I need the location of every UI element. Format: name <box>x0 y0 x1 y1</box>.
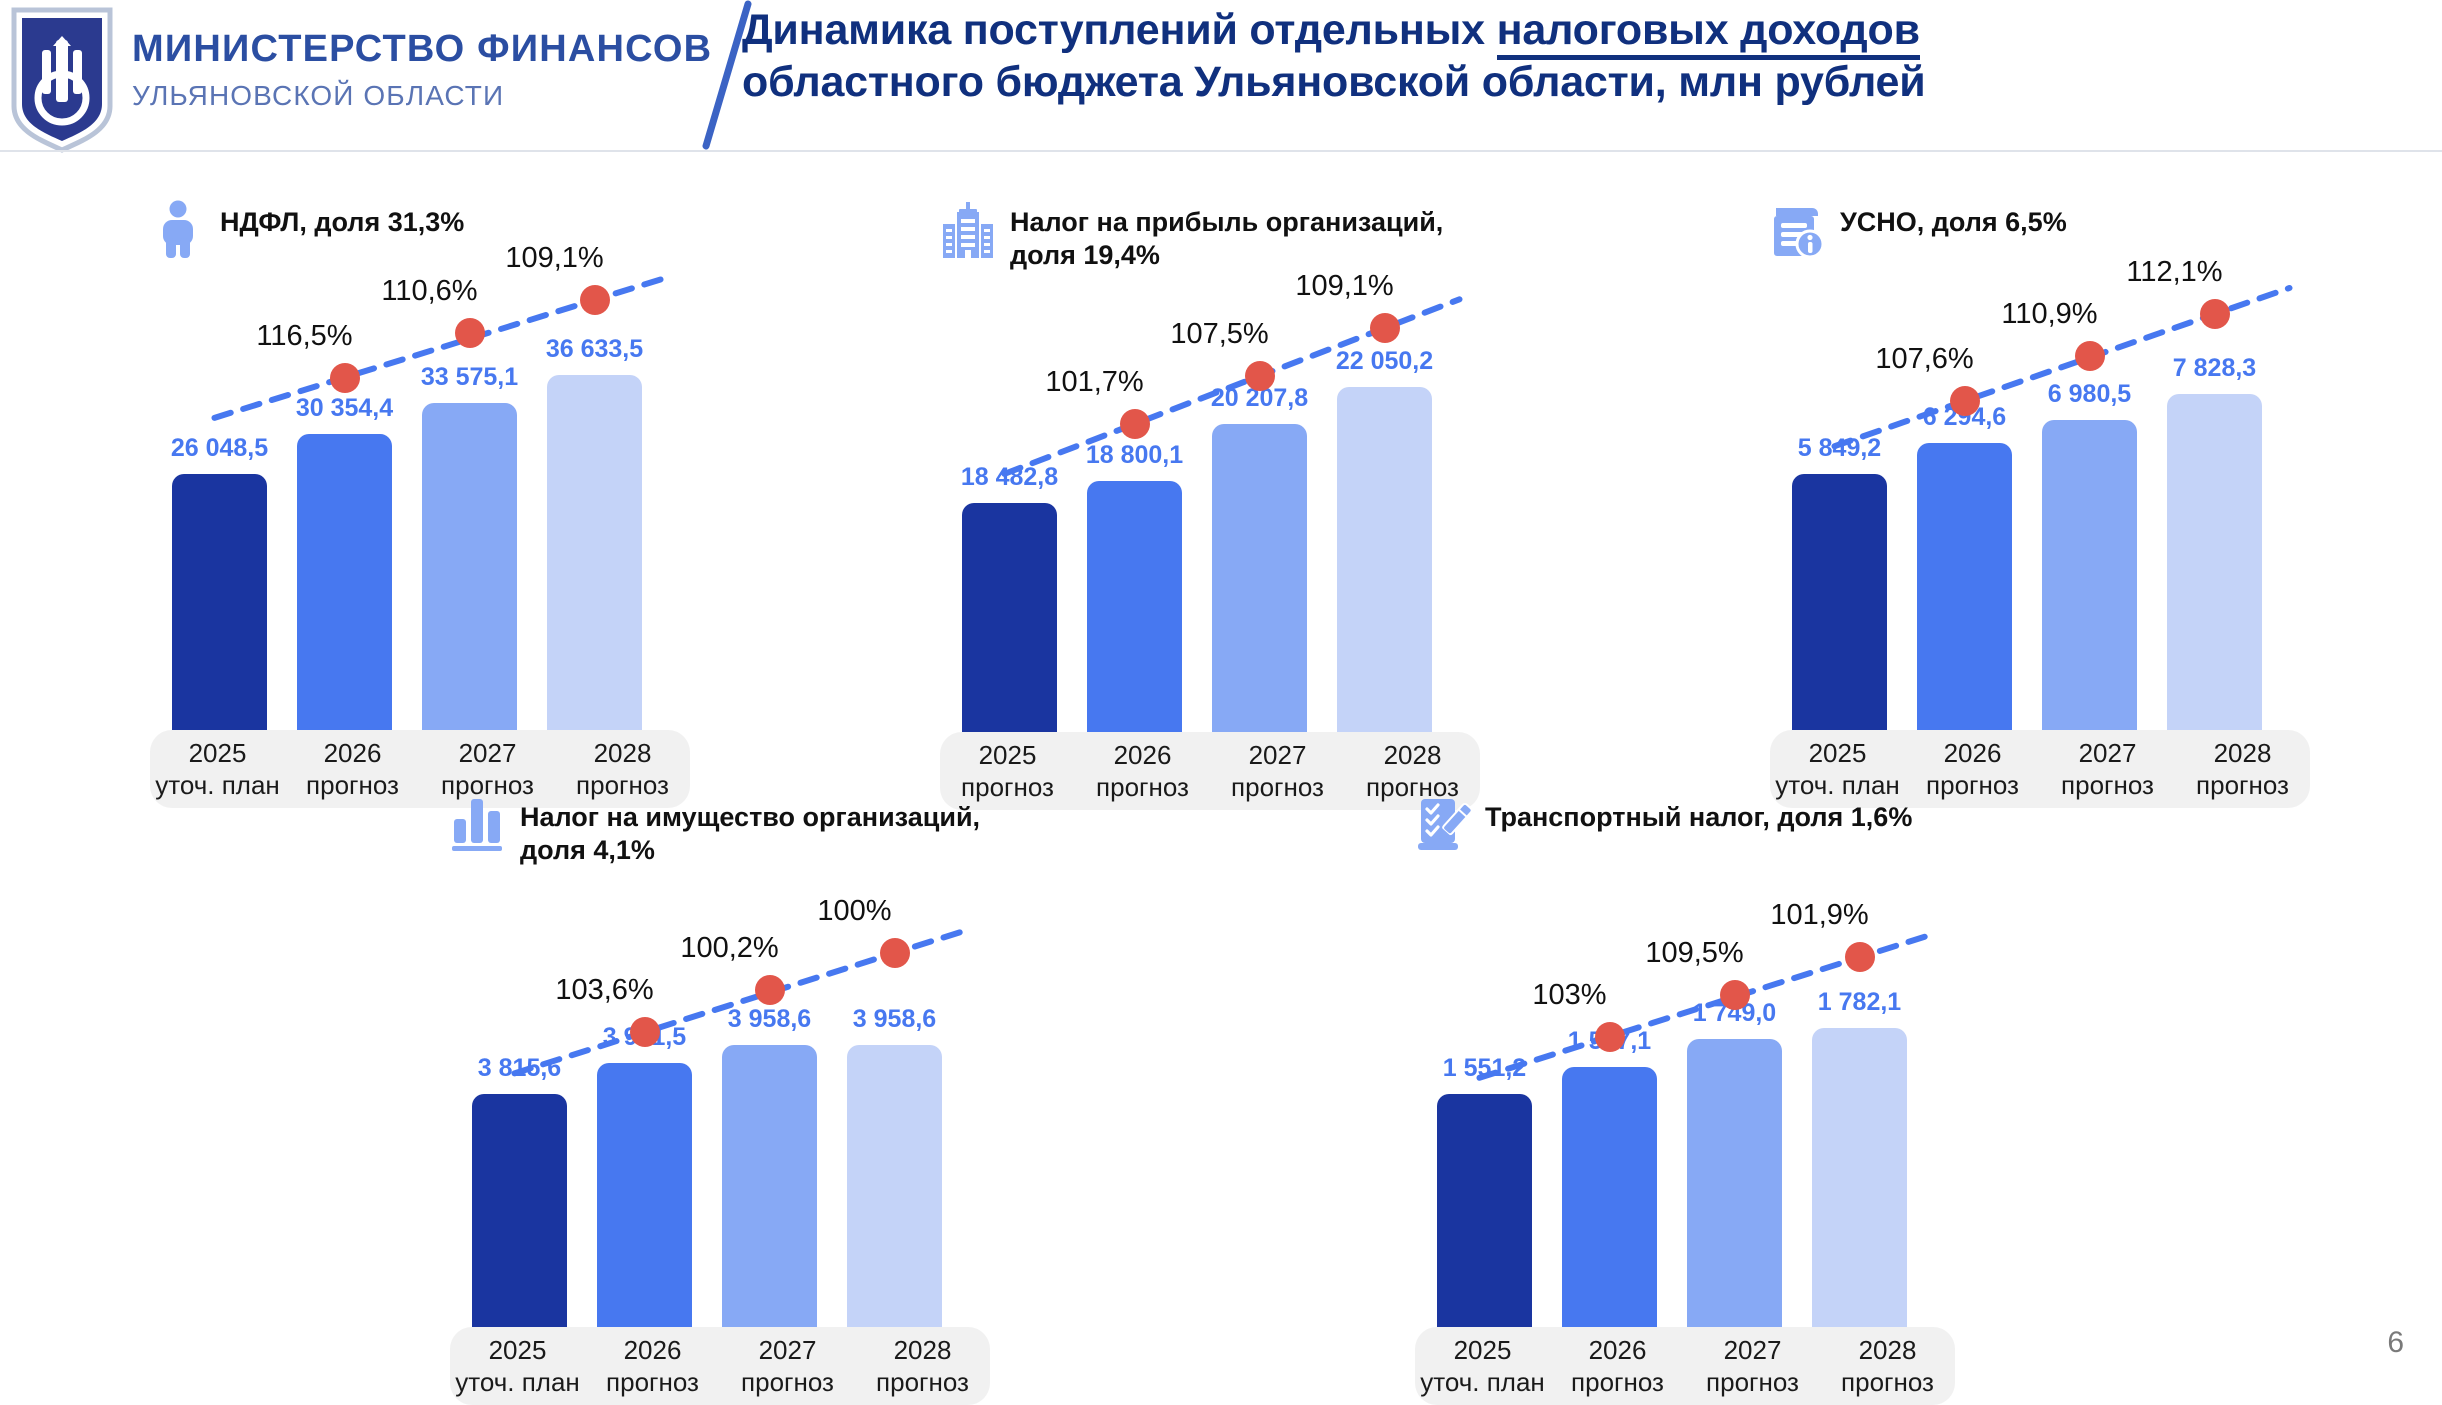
growth-point-2028 <box>1370 313 1400 343</box>
growth-label: 100% <box>760 895 950 928</box>
page-header: МИНИСТЕРСТВО ФИНАНСОВ УЛЬЯНОВСКОЙ ОБЛАСТ… <box>0 0 2442 152</box>
growth-point-2027 <box>755 975 785 1005</box>
chart-header-usno: УСНО, доля 6,5% <box>1770 200 2067 258</box>
bar-ndfl-2028 <box>547 375 642 730</box>
x-axis-year: 2027 <box>2040 737 2175 770</box>
bar-ndfl-2026 <box>297 434 392 730</box>
bar-value-label: 30 354,4 <box>267 394 422 423</box>
bar-usno-2025 <box>1792 474 1887 730</box>
bar-value-label: 5 849,2 <box>1762 434 1917 463</box>
bar-value-label: 7 828,3 <box>2137 354 2292 383</box>
page-number: 6 <box>2387 1326 2404 1360</box>
bar-value-label: 18 800,1 <box>1057 441 1212 470</box>
growth-point-2028 <box>2200 299 2230 329</box>
growth-label: 100,2% <box>635 932 825 965</box>
growth-label: 101,7% <box>1000 366 1190 399</box>
bar-value-label: 33 575,1 <box>392 363 547 392</box>
bar-value-label: 3 815,6 <box>442 1054 597 1083</box>
chart-header-property-tax: Налог на имущество организаций, доля 4,1… <box>450 795 980 867</box>
x-axis-tick: 2028прогноз <box>855 1334 990 1399</box>
book-info-icon <box>1770 200 1826 258</box>
chart-header-profit-tax: Налог на прибыль организаций, доля 19,4% <box>940 200 1443 272</box>
bar-ndfl-2027 <box>422 403 517 730</box>
x-axis-tick: 2027прогноз <box>1685 1334 1820 1399</box>
x-axis-tick: 2026прогноз <box>1550 1334 1685 1399</box>
bar-value-label: 22 050,2 <box>1307 347 1462 376</box>
x-axis-year: 2026 <box>1905 737 2040 770</box>
x-axis-tick: 2027прогноз <box>2040 737 2175 802</box>
x-axis-tick: 2026прогноз <box>1075 739 1210 804</box>
x-axis-year: 2025 <box>1770 737 1905 770</box>
ministry-name: МИНИСТЕРСТВО ФИНАНСОВ <box>132 30 712 68</box>
x-axis-year: 2028 <box>855 1334 990 1367</box>
x-axis-year: 2028 <box>555 737 690 770</box>
x-axis-year: 2025 <box>940 739 1075 772</box>
growth-point-2028 <box>1845 942 1875 972</box>
plot-area-usno: 5 849,26 294,66 980,57 828,3107,6%110,9%… <box>1770 260 2340 730</box>
growth-label: 109,1% <box>1250 270 1440 303</box>
bar-property-tax-2027 <box>722 1045 817 1327</box>
growth-label: 109,5% <box>1600 937 1790 970</box>
bar-profit-tax-2026 <box>1087 481 1182 732</box>
x-axis-tick: 2028прогноз <box>555 737 690 802</box>
bar-profit-tax-2027 <box>1212 424 1307 732</box>
x-axis-tick: 2027прогноз <box>1210 739 1345 804</box>
header-divider <box>0 150 2442 152</box>
growth-point-2027 <box>2075 341 2105 371</box>
x-axis-tick: 2026прогноз <box>585 1334 720 1399</box>
x-axis-property-tax: 2025уточ. план2026прогноз2027прогноз2028… <box>450 1327 990 1405</box>
person-icon <box>150 200 206 258</box>
x-axis-year: 2027 <box>420 737 555 770</box>
chart-title-usno: УСНО, доля 6,5% <box>1840 200 2067 239</box>
growth-point-2027 <box>455 318 485 348</box>
x-axis-profit-tax: 2025прогноз2026прогноз2027прогноз2028про… <box>940 732 1480 810</box>
x-axis-year: 2026 <box>585 1334 720 1367</box>
x-axis-note: прогноз <box>285 769 420 802</box>
bar-transport-tax-2025 <box>1437 1094 1532 1327</box>
x-axis-tick: 2025уточ. план <box>450 1334 585 1399</box>
bar-usno-2027 <box>2042 420 2137 730</box>
bar-value-label: 3 958,6 <box>817 1005 972 1034</box>
x-axis-year: 2028 <box>2175 737 2310 770</box>
bar-value-label: 1 782,1 <box>1782 988 1937 1017</box>
x-axis-note: прогноз <box>1210 771 1345 804</box>
x-axis-year: 2025 <box>450 1334 585 1367</box>
x-axis-note: уточ. план <box>150 769 285 802</box>
x-axis-year: 2027 <box>1685 1334 1820 1367</box>
chart-title-transport-tax: Транспортный налог, доля 1,6% <box>1485 795 1912 834</box>
page-title: Динамика поступлений отдельных налоговых… <box>742 4 2432 109</box>
growth-label: 107,6% <box>1830 343 2020 376</box>
growth-label: 103,6% <box>510 974 700 1007</box>
growth-label: 112,1% <box>2080 256 2270 289</box>
growth-label: 110,6% <box>335 275 525 308</box>
x-axis-note: прогноз <box>2175 769 2310 802</box>
page-title-line1-underlined: налоговых доходов <box>1497 6 1920 60</box>
x-axis-tick: 2028прогноз <box>2175 737 2310 802</box>
bar-value-label: 36 633,5 <box>517 335 672 364</box>
x-axis-year: 2027 <box>1210 739 1345 772</box>
page-title-line2: областного бюджета Ульяновской области, … <box>742 58 1925 106</box>
x-axis-tick: 2025прогноз <box>940 739 1075 804</box>
x-axis-tick: 2028прогноз <box>1345 739 1480 804</box>
region-name: УЛЬЯНОВСКОЙ ОБЛАСТИ <box>132 82 712 110</box>
x-axis-tick: 2026прогноз <box>285 737 420 802</box>
x-axis-tick: 2026прогноз <box>1905 737 2040 802</box>
growth-label: 107,5% <box>1125 318 1315 351</box>
x-axis-note: прогноз <box>1905 769 2040 802</box>
plot-area-property-tax: 3 815,63 951,53 958,63 958,6103,6%100,2%… <box>450 887 1020 1327</box>
x-axis-tick: 2025уточ. план <box>150 737 285 802</box>
chart-title-profit-tax: Налог на прибыль организаций, доля 19,4% <box>1010 200 1443 272</box>
x-axis-tick: 2025уточ. план <box>1415 1334 1550 1399</box>
bar-profit-tax-2028 <box>1337 387 1432 732</box>
bar-transport-tax-2026 <box>1562 1067 1657 1327</box>
x-axis-tick: 2027прогноз <box>720 1334 855 1399</box>
x-axis-note: прогноз <box>1075 771 1210 804</box>
ministry-titles: МИНИСТЕРСТВО ФИНАНСОВ УЛЬЯНОВСКОЙ ОБЛАСТ… <box>132 30 712 110</box>
growth-label: 103% <box>1475 979 1665 1012</box>
x-axis-year: 2026 <box>1550 1334 1685 1367</box>
growth-label: 101,9% <box>1725 899 1915 932</box>
plot-area-transport-tax: 1 551,21 597,11 749,01 782,1103%109,5%10… <box>1415 887 1985 1327</box>
bar-ndfl-2025 <box>172 474 267 730</box>
x-axis-year: 2025 <box>1415 1334 1550 1367</box>
x-axis-transport-tax: 2025уточ. план2026прогноз2027прогноз2028… <box>1415 1327 1955 1405</box>
x-axis-tick: 2028прогноз <box>1820 1334 1955 1399</box>
x-axis-note: прогноз <box>2040 769 2175 802</box>
growth-point-2028 <box>580 285 610 315</box>
x-axis-year: 2026 <box>285 737 420 770</box>
growth-label: 109,1% <box>460 242 650 275</box>
checklist-pencil-icon <box>1415 795 1471 853</box>
growth-point-2026 <box>1595 1022 1625 1052</box>
growth-point-2026 <box>630 1017 660 1047</box>
growth-point-2026 <box>330 363 360 393</box>
x-axis-year: 2025 <box>150 737 285 770</box>
chart-header-ndfl: НДФЛ, доля 31,3% <box>150 200 464 258</box>
growth-point-2027 <box>1245 361 1275 391</box>
office-buildings-icon <box>940 200 996 258</box>
growth-point-2028 <box>880 938 910 968</box>
bar-property-tax-2025 <box>472 1094 567 1327</box>
growth-point-2026 <box>1950 386 1980 416</box>
x-axis-year: 2027 <box>720 1334 855 1367</box>
x-axis-year: 2026 <box>1075 739 1210 772</box>
x-axis-tick: 2027прогноз <box>420 737 555 802</box>
growth-label: 110,9% <box>1955 298 2145 331</box>
x-axis-year: 2028 <box>1820 1334 1955 1367</box>
plot-area-ndfl: 26 048,530 354,433 575,136 633,5116,5%11… <box>150 260 720 730</box>
bar-property-tax-2026 <box>597 1063 692 1327</box>
chart-header-transport-tax: Транспортный налог, доля 1,6% <box>1415 795 1912 853</box>
bar-value-label: 1 551,2 <box>1407 1054 1562 1083</box>
growth-point-2027 <box>1720 980 1750 1010</box>
coat-of-arms-icon <box>8 6 116 154</box>
bar-transport-tax-2028 <box>1812 1028 1907 1327</box>
bar-chart-icon <box>450 795 506 853</box>
growth-point-2026 <box>1120 409 1150 439</box>
page-title-line1-plain: Динамика поступлений отдельных <box>742 6 1497 54</box>
growth-label: 116,5% <box>210 320 400 353</box>
x-axis-tick: 2025уточ. план <box>1770 737 1905 802</box>
chart-title-property-tax: Налог на имущество организаций, доля 4,1… <box>520 795 980 867</box>
bar-transport-tax-2027 <box>1687 1039 1782 1327</box>
bar-usno-2028 <box>2167 394 2262 730</box>
bar-profit-tax-2025 <box>962 503 1057 732</box>
bar-usno-2026 <box>1917 443 2012 730</box>
chart-title-ndfl: НДФЛ, доля 31,3% <box>220 200 464 239</box>
bar-property-tax-2028 <box>847 1045 942 1327</box>
bar-value-label: 26 048,5 <box>142 434 297 463</box>
x-axis-year: 2028 <box>1345 739 1480 772</box>
bar-value-label: 6 980,5 <box>2012 380 2167 409</box>
plot-area-profit-tax: 18 482,818 800,120 207,822 050,2101,7%10… <box>940 292 1510 732</box>
